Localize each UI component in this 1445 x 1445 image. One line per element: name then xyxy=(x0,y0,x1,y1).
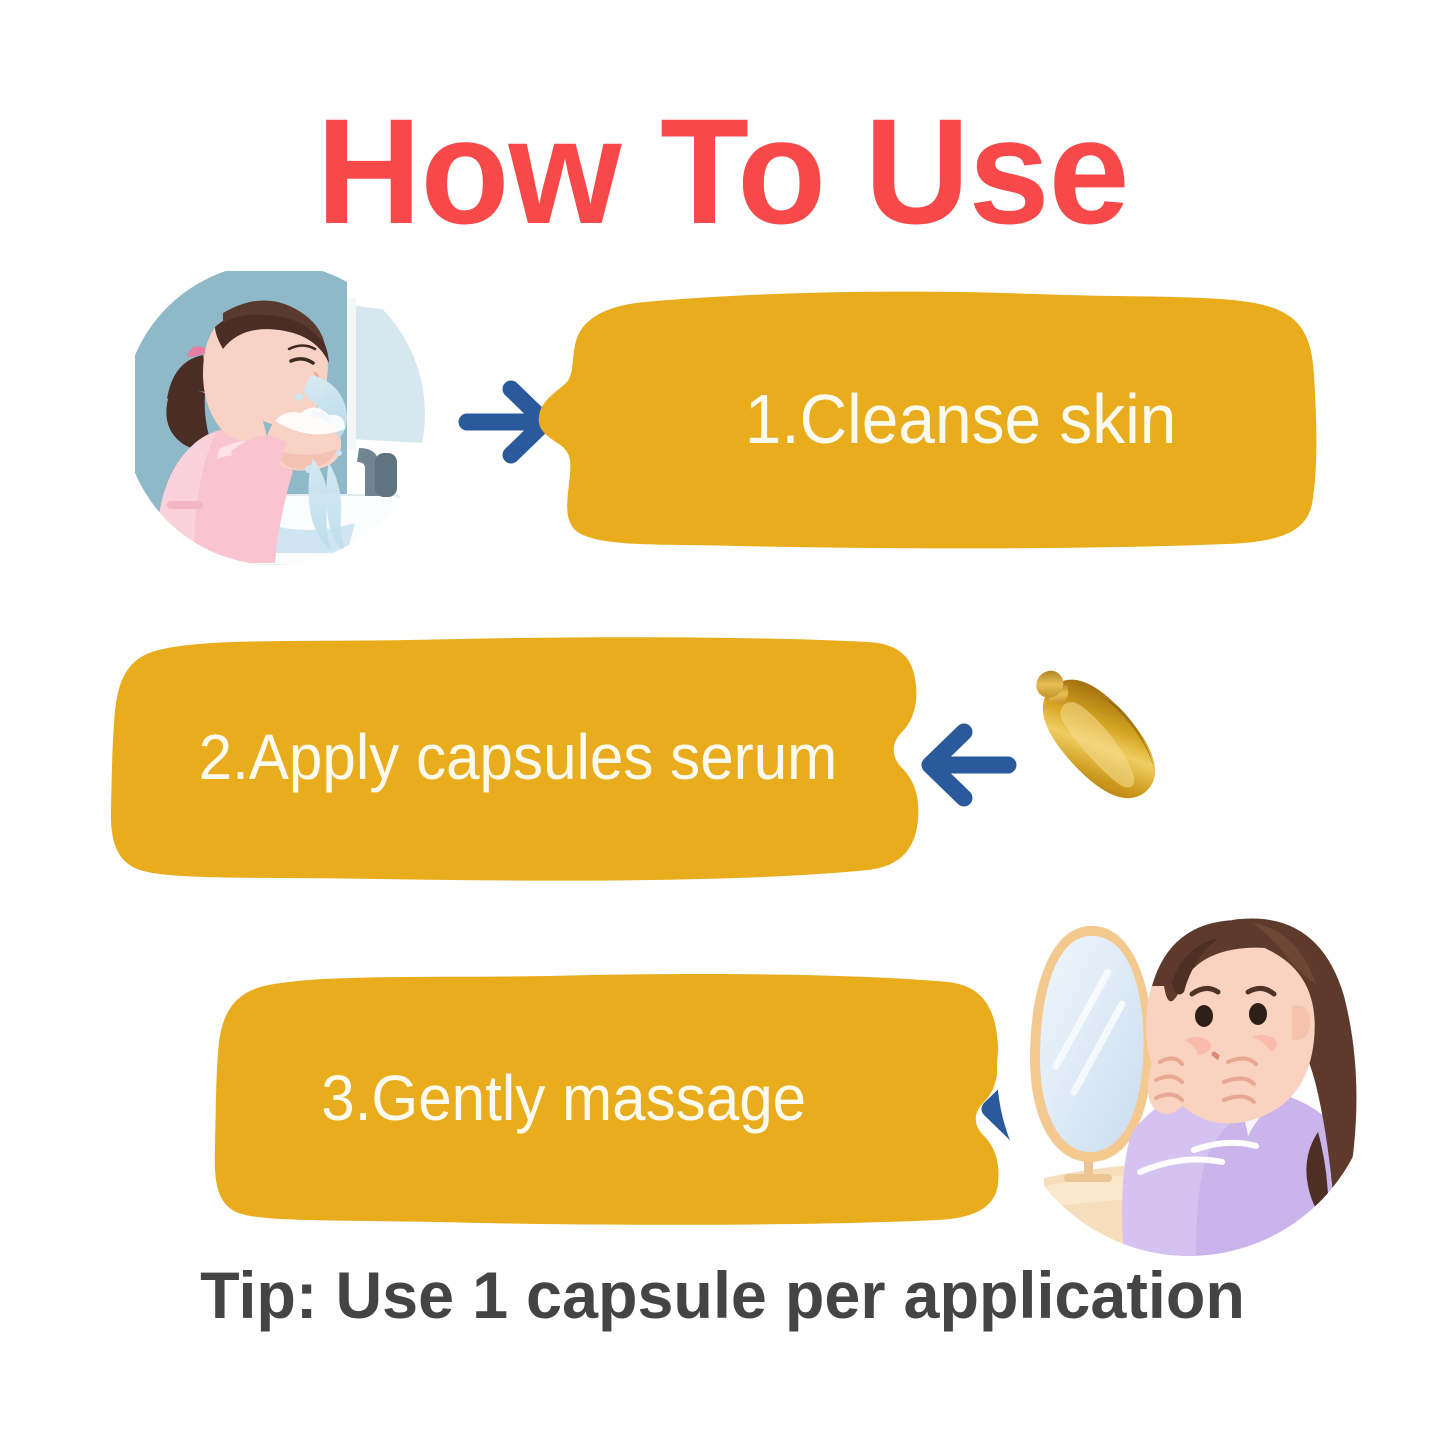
step-1-label: 1.Cleanse skin xyxy=(546,288,1445,550)
how-to-use-infographic: How To Use xyxy=(0,0,1445,1445)
step-3-banner: 3.Gently massage xyxy=(208,968,1008,1228)
woman-massaging-face-mirror-illustration xyxy=(1004,886,1374,1256)
page-title: How To Use xyxy=(22,96,1424,246)
gold-serum-capsule-illustration xyxy=(1000,645,1200,835)
step-1-banner: 1.Cleanse skin xyxy=(515,288,1320,550)
step-3-label: 3.Gently massage xyxy=(235,968,1073,1228)
tip-text: Tip: Use 1 capsule per application xyxy=(14,1262,1430,1328)
step-2-label: 2.Apply capsules serum xyxy=(135,632,972,882)
step-2-banner: 2.Apply capsules serum xyxy=(108,632,930,882)
woman-washing-face-illustration xyxy=(123,263,425,565)
